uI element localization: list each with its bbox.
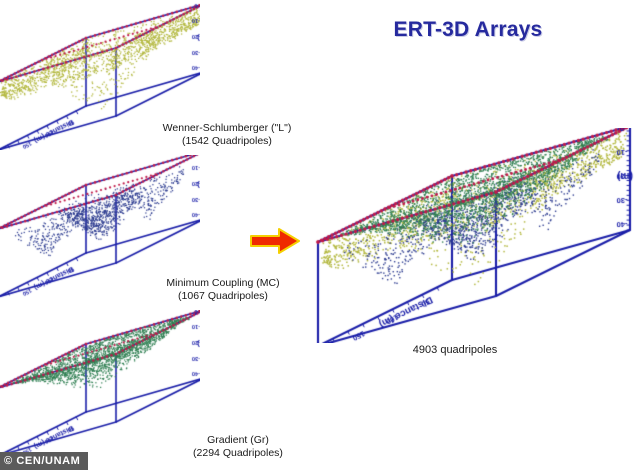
caption-line-2: (1542 Quadripoles) <box>152 135 302 148</box>
caption-line-2: (2294 Quadripoles) <box>168 447 308 460</box>
plot-combined <box>312 128 634 343</box>
plot-canvas-combined <box>312 128 634 343</box>
right-arrow-icon <box>247 225 303 257</box>
page-title: ERT-3D Arrays <box>318 18 618 42</box>
watermark-credit: © CEN/UNAM <box>0 452 88 470</box>
caption-line-1: Wenner-Schlumberger ("L") <box>163 122 292 134</box>
caption-gradient: Gradient (Gr) (2294 Quadripoles) <box>168 434 308 460</box>
caption-line-2: (1067 Quadripoles) <box>148 290 298 303</box>
caption-wenner-schlumberger: Wenner-Schlumberger ("L") (1542 Quadripo… <box>152 122 302 148</box>
caption-combined-total: 4903 quadripoles <box>390 344 520 357</box>
caption-line-1: Gradient (Gr) <box>207 434 269 446</box>
figure-root: ERT-3D Arrays Wenner-Schlumberger ("L") … <box>0 0 634 474</box>
caption-line-1: 4903 quadripoles <box>413 344 497 356</box>
caption-minimum-coupling: Minimum Coupling (MC) (1067 Quadripoles) <box>148 277 298 303</box>
caption-line-1: Minimum Coupling (MC) <box>166 277 279 289</box>
